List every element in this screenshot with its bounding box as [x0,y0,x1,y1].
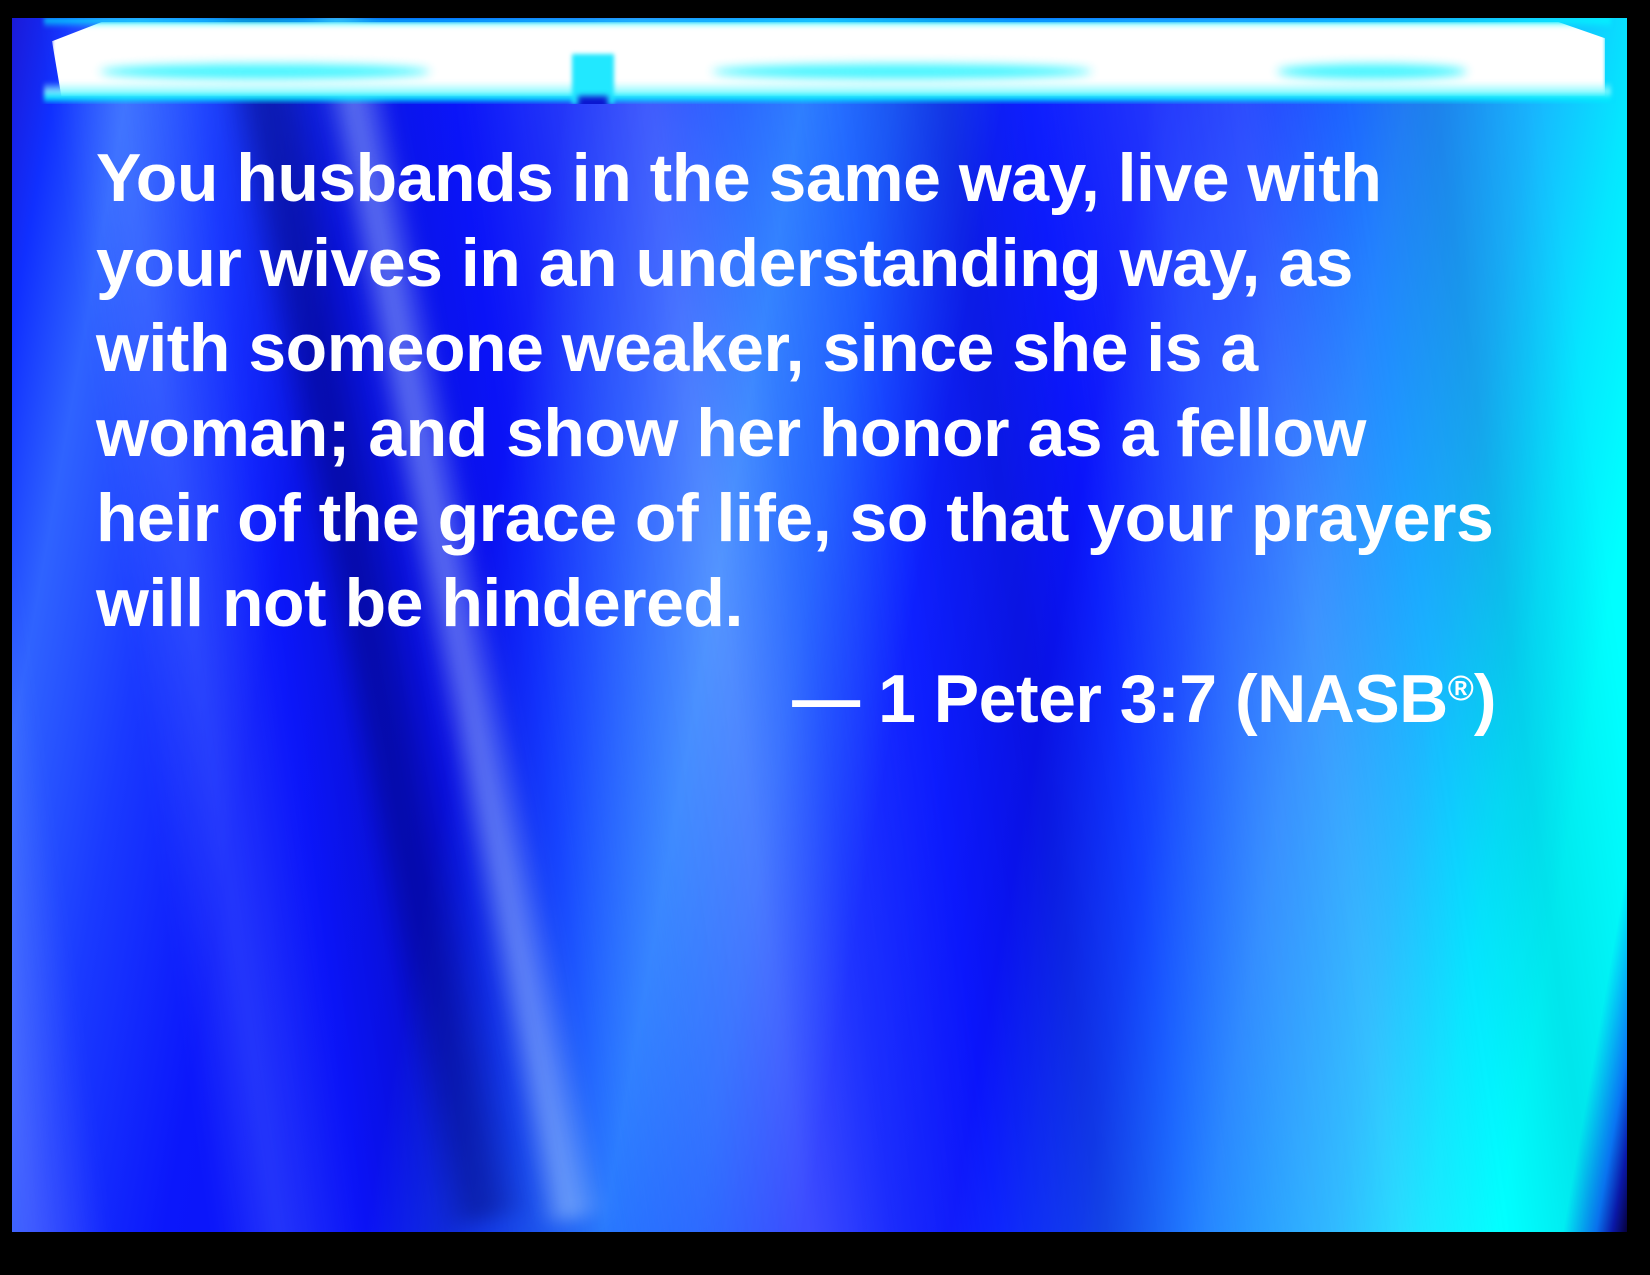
banner-cyan-edge [44,18,1611,104]
citation-translation-open: (NASB [1235,661,1448,737]
banner-cyan-wisp [100,64,430,79]
verse-text: You husbands in the same way, live with … [96,136,1496,646]
banner-cyan-wisp [712,64,1092,79]
top-banner [12,18,1627,104]
registered-trademark-icon: ® [1448,669,1474,708]
banner-notch-shadow [578,96,608,104]
citation-reference: 1 Peter 3:7 [878,661,1216,737]
verse-citation: — 1 Peter 3:7 (NASB®) [96,646,1496,742]
verse-slide: You husbands in the same way, live with … [0,0,1650,1275]
slide-artwork: You husbands in the same way, live with … [12,18,1627,1232]
citation-translation-close: ) [1474,661,1496,737]
citation-dash: — [792,661,860,737]
banner-cyan-wisp [1277,64,1467,79]
